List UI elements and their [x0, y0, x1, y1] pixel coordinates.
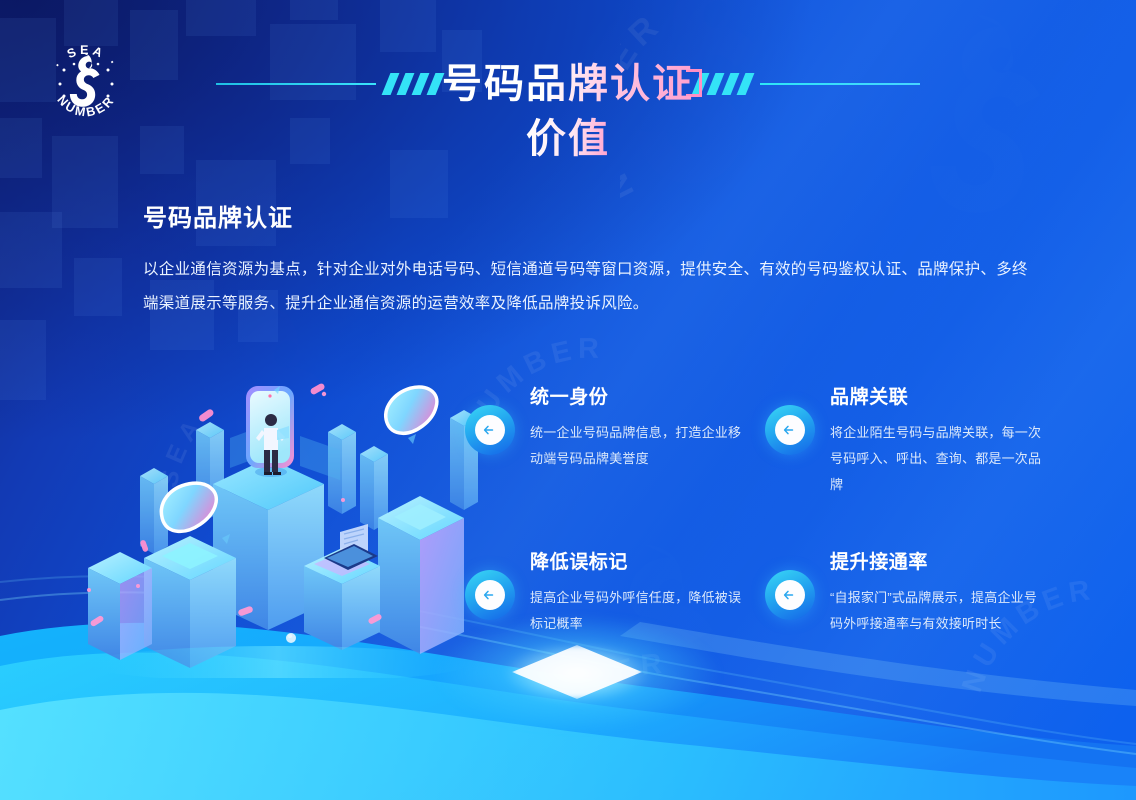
- icon-inner-circle: [775, 415, 805, 445]
- feature-card-desc: 提高企业号码外呼信任度，降低被误标记概率: [530, 585, 750, 637]
- feature-card-desc: 统一企业号码品牌信息，打造企业移动端号码品牌美誉度: [530, 420, 750, 472]
- decor-line-left: [216, 83, 376, 85]
- arrow-left-circle-icon[interactable]: [765, 405, 815, 455]
- page-title-block: 号码品牌认证 价值: [0, 56, 1136, 166]
- arrow-left-icon: [482, 587, 498, 603]
- feature-card-title: 统一身份: [530, 385, 755, 411]
- feature-card-title: 提升接通率: [830, 550, 1055, 576]
- isometric-illustration: [78, 368, 488, 678]
- feature-card-unified-identity[interactable]: 统一身份 统一企业号码品牌信息，打造企业移动端号码品牌美誉度: [465, 385, 755, 472]
- arrow-left-circle-icon[interactable]: [765, 570, 815, 620]
- title-decor-right: [696, 56, 936, 112]
- feature-card-title: 降低误标记: [530, 550, 755, 576]
- section-title: 号码品牌认证: [143, 198, 1043, 233]
- intro-section: 号码品牌认证 以企业通信资源为基点，针对企业对外电话号码、短信通道号码等窗口资源…: [143, 198, 1043, 321]
- section-body: 以企业通信资源为基点，针对企业对外电话号码、短信通道号码等窗口资源，提供安全、有…: [143, 253, 1043, 321]
- feature-card-desc: 将企业陌生号码与品牌关联，每一次号码呼入、呼出、查询、都是一次品牌: [830, 420, 1050, 498]
- feature-card-body: 降低误标记 提高企业号码外呼信任度，降低被误标记概率: [530, 550, 755, 637]
- feature-card-body: 提升接通率 “自报家门”式品牌展示，提高企业号码外呼接通率与有效接听时长: [830, 550, 1055, 637]
- icon-inner-circle: [475, 580, 505, 610]
- title-line-2-row: 价值: [0, 112, 1136, 166]
- page-subtitle: 价值: [526, 112, 610, 166]
- arrow-left-icon: [782, 422, 798, 438]
- page-title: 号码品牌认证: [442, 56, 694, 112]
- arrow-left-icon: [782, 587, 798, 603]
- title-decor-left: [200, 56, 440, 112]
- feature-card-body: 品牌关联 将企业陌生号码与品牌关联，每一次号码呼入、呼出、查询、都是一次品牌: [830, 385, 1055, 498]
- decor-bars-right: [696, 73, 750, 95]
- poster-canvas: NUMBER NUMBER SEA NUMBER SEA NUMBER: [0, 0, 1136, 800]
- decor-bars-left: [386, 73, 440, 95]
- icon-inner-circle: [775, 580, 805, 610]
- feature-card-improve-answer-rate[interactable]: 提升接通率 “自报家门”式品牌展示，提高企业号码外呼接通率与有效接听时长: [765, 550, 1055, 637]
- icon-inner-circle: [475, 415, 505, 445]
- arrow-left-circle-icon[interactable]: [465, 405, 515, 455]
- feature-card-desc: “自报家门”式品牌展示，提高企业号码外呼接通率与有效接听时长: [830, 585, 1050, 637]
- feature-card-reduce-mislabel[interactable]: 降低误标记 提高企业号码外呼信任度，降低被误标记概率: [465, 550, 755, 637]
- decor-line-right: [760, 83, 920, 85]
- arrow-left-icon: [482, 422, 498, 438]
- title-line-1-row: 号码品牌认证: [0, 56, 1136, 112]
- feature-card-body: 统一身份 统一企业号码品牌信息，打造企业移动端号码品牌美誉度: [530, 385, 755, 472]
- feature-card-brand-association[interactable]: 品牌关联 将企业陌生号码与品牌关联，每一次号码呼入、呼出、查询、都是一次品牌: [765, 385, 1055, 498]
- isometric-city-illustration: [78, 368, 488, 678]
- feature-card-title: 品牌关联: [830, 385, 1055, 411]
- arrow-left-circle-icon[interactable]: [465, 570, 515, 620]
